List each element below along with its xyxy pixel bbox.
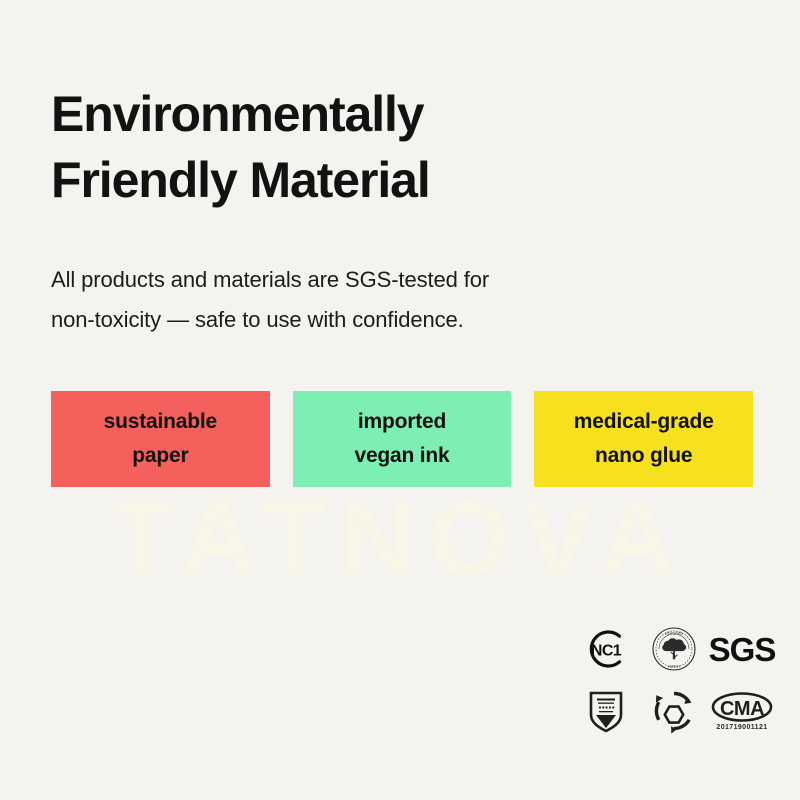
material-chip-line-2: vegan ink bbox=[354, 439, 449, 473]
recycle-icon bbox=[640, 680, 708, 742]
material-chip-line-2: paper bbox=[132, 439, 188, 473]
sgs-logo-text: SGS bbox=[709, 633, 776, 666]
cma-mark-icon: CMA 201719001121 bbox=[708, 680, 776, 742]
page-subtitle: All products and materials are SGS-teste… bbox=[51, 260, 671, 340]
svg-text:CMA: CMA bbox=[720, 698, 764, 720]
page-subtitle-line-2: non-toxicity — safe to use with confiden… bbox=[51, 300, 671, 340]
cma-mark-wrap: CMA 201719001121 bbox=[711, 691, 773, 731]
page-title-line-2: Friendly Material bbox=[51, 147, 751, 213]
material-chip-line-1: medical-grade bbox=[574, 405, 714, 439]
material-chip-group: sustainable paper imported vegan ink med… bbox=[51, 391, 753, 487]
certification-row-2: CMA 201719001121 bbox=[572, 680, 776, 742]
material-chip-line-1: imported bbox=[358, 405, 446, 439]
material-chip-medical-grade-nano-glue: medical-grade nano glue bbox=[534, 391, 753, 487]
material-chip-line-1: sustainable bbox=[104, 405, 217, 439]
svg-text:NC1: NC1 bbox=[591, 643, 622, 660]
sgs-logo: SGS bbox=[708, 618, 776, 680]
cma-certificate-number: 201719001121 bbox=[716, 724, 767, 731]
material-chip-imported-vegan-ink: imported vegan ink bbox=[293, 391, 512, 487]
svg-text:CERTIFIED: CERTIFIED bbox=[665, 632, 683, 636]
svg-text:FOREST: FOREST bbox=[668, 665, 681, 669]
page-title: Environmentally Friendly Material bbox=[51, 81, 751, 213]
tree-seal-icon: CERTIFIED FOREST bbox=[640, 618, 708, 680]
brand-watermark: TATNOVA bbox=[0, 487, 800, 591]
page-title-line-1: Environmentally bbox=[51, 81, 751, 147]
shield-badge-icon bbox=[572, 680, 640, 742]
poster-canvas: TATNOVA Environmentally Friendly Materia… bbox=[0, 0, 800, 800]
material-chip-line-2: nano glue bbox=[595, 439, 692, 473]
certification-badges: NC1 CERTIFIED bbox=[572, 618, 776, 746]
certification-row-1: NC1 CERTIFIED bbox=[572, 618, 776, 680]
page-subtitle-line-1: All products and materials are SGS-teste… bbox=[51, 260, 671, 300]
material-chip-sustainable-paper: sustainable paper bbox=[51, 391, 270, 487]
nc1-icon: NC1 bbox=[572, 618, 640, 680]
